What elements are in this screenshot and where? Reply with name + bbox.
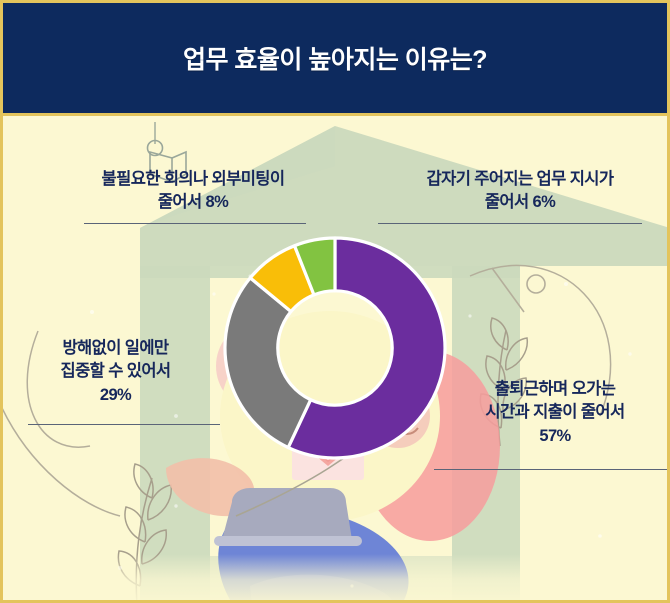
page-title: 업무 효율이 높아지는 이유는? <box>183 40 487 76</box>
label-commute-line2: 시간과 지출이 줄어서 <box>442 401 668 424</box>
label-meetings-line1: 불필요한 회의나 외부미팅이 <box>48 168 338 191</box>
label-meetings-line2: 줄어서 8% <box>48 191 338 214</box>
label-commute-underline <box>434 469 668 470</box>
label-meetings: 불필요한 회의나 외부미팅이 줄어서 8% <box>48 168 338 215</box>
label-orders-underline <box>378 223 642 224</box>
donut-chart-svg <box>215 228 455 468</box>
label-orders-line1: 갑자기 주어지는 업무 지시가 <box>380 168 660 191</box>
label-focus-line2: 집중할 수 있어서 <box>8 360 223 383</box>
label-focus: 방해없이 일에만 집중할 수 있어서 29% <box>8 337 223 407</box>
label-commute: 출퇴근하며 오가는 시간과 지출이 줄어서 57% <box>442 378 668 448</box>
header-banner: 업무 효율이 높아지는 이유는? <box>3 3 667 113</box>
label-commute-line1: 출퇴근하며 오가는 <box>442 378 668 401</box>
label-orders: 갑자기 주어지는 업무 지시가 줄어서 6% <box>380 168 660 215</box>
label-meetings-underline <box>84 223 306 224</box>
label-focus-line1: 방해없이 일에만 <box>8 337 223 360</box>
label-orders-line2: 줄어서 6% <box>380 191 660 214</box>
donut-chart <box>215 228 455 468</box>
label-focus-underline <box>28 424 220 425</box>
infographic-canvas: 불필요한 회의나 외부미팅이 줄어서 8% 갑자기 주어지는 업무 지시가 줄어… <box>0 0 670 603</box>
header-gold-rule <box>3 113 667 116</box>
label-commute-line3: 57% <box>442 425 668 448</box>
label-focus-line3: 29% <box>8 384 223 407</box>
